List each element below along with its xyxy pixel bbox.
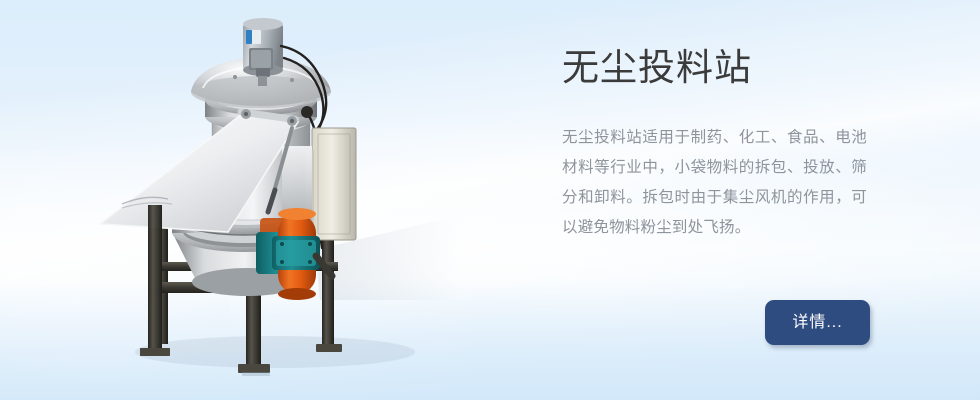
front-left-leg bbox=[148, 205, 162, 353]
product-hero-banner: 无尘投料站 无尘投料站适用于制药、化工、食品、电池材料等行业中，小袋物料的拆包、… bbox=[0, 0, 980, 400]
ground-shadow bbox=[135, 336, 415, 368]
motor-label bbox=[246, 30, 252, 44]
product-description: 无尘投料站适用于制药、化工、食品、电池材料等行业中，小袋物料的拆包、投放、筛分和… bbox=[562, 92, 867, 243]
banner-copy: 无尘投料站 无尘投料站适用于制药、化工、食品、电池材料等行业中，小袋物料的拆包、… bbox=[562, 44, 892, 243]
page-title: 无尘投料站 bbox=[562, 44, 892, 92]
product-image bbox=[60, 0, 460, 400]
cable-gland bbox=[301, 106, 313, 118]
detail-button[interactable]: 详情... bbox=[765, 300, 870, 345]
